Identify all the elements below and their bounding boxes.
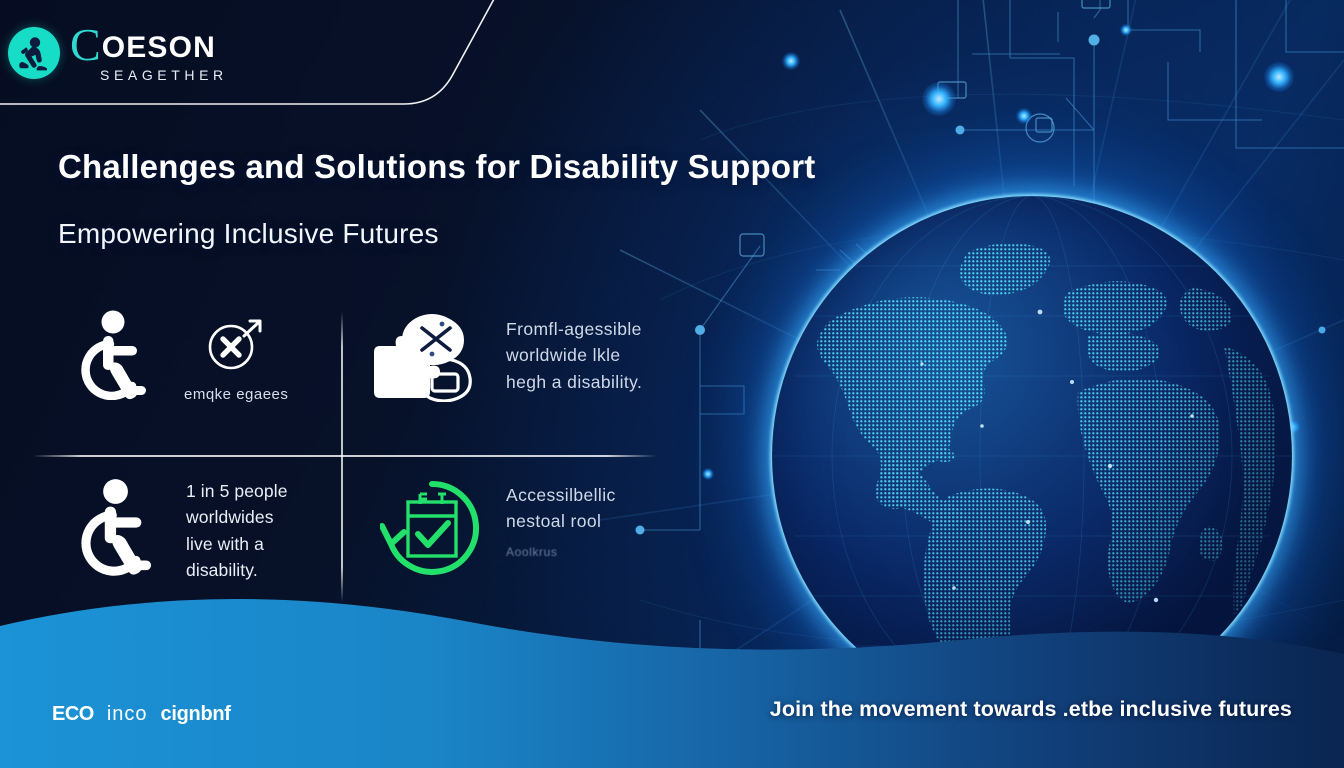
stat-bottom-right-line2: nestoal rool — [506, 508, 616, 534]
stat-bottom-right-line3: Aoolkrus — [506, 545, 616, 559]
wheelchair-glyph — [80, 308, 158, 400]
glow-particle — [782, 52, 800, 70]
stat-top-right-line2: worldwide lkle — [506, 342, 642, 368]
stat-card-bottom-left: 1 in 5 people worldwides live with a dis… — [80, 476, 336, 583]
stat-bottom-left-line1: 1 in 5 people — [186, 478, 288, 504]
logo[interactable]: C OESON SEAGETHER — [8, 24, 228, 82]
circle-x-arrow-icon — [204, 316, 268, 374]
stat-bottom-right-line1: Accessilbellic — [506, 482, 616, 508]
wheelchair-accessibility-icon — [80, 476, 164, 576]
glow-particle — [1264, 62, 1294, 92]
footer-brand-line: ECO inco cignbnf — [52, 703, 231, 726]
stat-top-left-caption: emqke egaees — [184, 386, 288, 403]
stat-card-bottom-right: Accessilbellic nestoal rool Aoolkrus — [380, 476, 680, 580]
glow-particle — [922, 82, 956, 116]
stat-card-top-left: emqke egaees — [80, 308, 336, 403]
stat-bottom-left-line4: disability. — [186, 557, 288, 583]
logo-tagline: SEAGETHER — [100, 68, 228, 82]
footer-text-inco: inco — [107, 703, 148, 726]
wheelchair-person-glyph — [8, 27, 60, 79]
infographic-poster: C OESON SEAGETHER Challenges and Solutio… — [0, 0, 1344, 768]
stat-bottom-left-line2: worldwides — [186, 504, 288, 530]
puzzle-speech-hand-glyph — [370, 310, 488, 402]
glow-particle — [1120, 24, 1132, 36]
stat-top-right-line3: hegh a disability. — [506, 369, 642, 395]
logo-letter-c: C — [70, 24, 100, 65]
stat-bottom-left-text: 1 in 5 people worldwides live with a dis… — [186, 478, 288, 583]
stat-top-right-text: Fromfl-agessible worldwide lkle hegh a d… — [506, 316, 642, 395]
wheelchair-glyph — [80, 476, 164, 576]
stat-card-top-right: Fromfl-agessible worldwide lkle hegh a d… — [370, 310, 670, 402]
footer-text-cig: cignbnf — [161, 703, 231, 726]
logo-name: OESON — [102, 33, 216, 65]
stat-bottom-left-line3: live with a — [186, 531, 288, 557]
refresh-circle-checklist-icon — [380, 476, 484, 580]
stat-bottom-right-content: Accessilbellic nestoal rool Aoolkrus — [506, 482, 616, 559]
stats-grid: emqke egaees — [60, 300, 680, 610]
brand-header: C OESON SEAGETHER — [0, 0, 470, 104]
stat-top-right-line1: Fromfl-agessible — [506, 316, 642, 342]
wheelchair-person-icon — [8, 27, 60, 79]
refresh-checklist-glyph — [380, 476, 484, 580]
page-title: Challenges and Solutions for Disability … — [58, 148, 815, 186]
puzzle-piece-icon — [370, 310, 488, 402]
footer-text-eco: ECO — [52, 703, 94, 726]
logo-wordmark: C OESON SEAGETHER — [70, 24, 228, 82]
wheelchair-accessibility-icon — [80, 308, 158, 400]
stat-top-left-content: emqke egaees — [184, 316, 288, 403]
grid-divider-horizontal — [32, 455, 657, 457]
page-subtitle: Empowering Inclusive Futures — [58, 218, 439, 250]
footer-wave — [0, 588, 1344, 768]
grid-divider-vertical — [341, 312, 343, 602]
footer-cta: Join the movement towards .etbe inclusiv… — [770, 697, 1292, 722]
